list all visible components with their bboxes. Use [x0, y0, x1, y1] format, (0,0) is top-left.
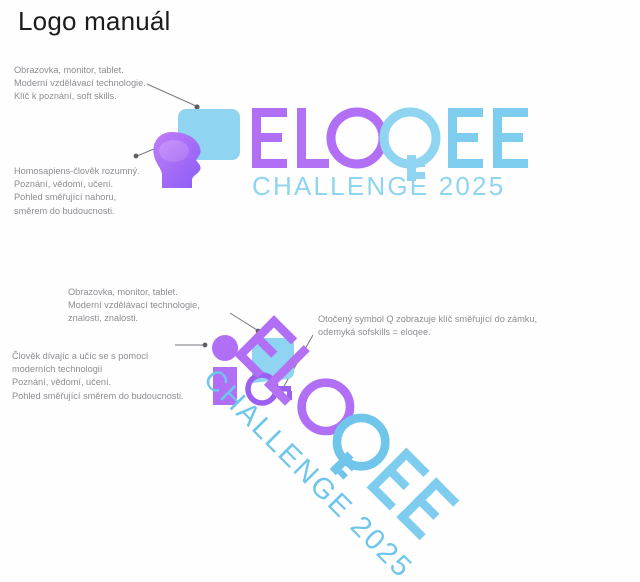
head-note-top-line-4: směrem do budoucnosti. — [14, 205, 140, 218]
wordmark-letter-E2 — [448, 108, 483, 168]
logo-lockup-rotated: CHALLENGE 2025 — [168, 330, 468, 570]
wordmark-letter-O — [331, 112, 383, 164]
logo-manual-page: Logo manuál Obrazovka, monitor, tablet. … — [0, 0, 640, 582]
screen-note-bottom: Obrazovka, monitor, tablet. Moderní vzdě… — [68, 286, 200, 326]
person-note-bottom: Člověk dívajíc a učíc se s pomocí modern… — [12, 350, 184, 403]
screen-note-top-line-2: Moderní vzdělávací technologie. — [14, 77, 146, 90]
wordmark-letter-E1 — [252, 108, 287, 168]
brain-oval-icon — [159, 140, 189, 162]
screen-note-top-line-1: Obrazovka, monitor, tablet. — [14, 64, 146, 77]
head-note-top-line-2: Poznání, vědomí, učení. — [14, 178, 140, 191]
screen-note-bottom-line-1: Obrazovka, monitor, tablet. — [68, 286, 200, 299]
screen-note-bottom-line-3: znalosti, znalosti. — [68, 312, 200, 325]
wordmark-rot-letter-O — [292, 373, 360, 441]
wordmark-tagline: CHALLENGE 2025 — [252, 171, 505, 200]
head-note-top: Homosapiens-člověk rozumný. Poznání, věd… — [14, 165, 140, 218]
page-title: Logo manuál — [18, 6, 171, 37]
person-note-bottom-line-3: Poznání, vědomí, učení. — [12, 376, 184, 389]
logo-lockup-rotated-svg: CHALLENGE 2025 — [139, 304, 485, 582]
screen-note-top-line-3: Klíč k poznání, soft skills. — [14, 90, 146, 103]
person-note-bottom-line-1: Člověk dívajíc a učíc se s pomocí — [12, 350, 184, 363]
head-note-top-line-3: Pohled směřující nahoru, — [14, 191, 140, 204]
screen-note-top: Obrazovka, monitor, tablet. Moderní vzdě… — [14, 64, 146, 104]
wordmark-letter-L — [297, 108, 329, 168]
key-note-bottom-line-1: Otočený symbol Q zobrazuje klíč směřujíc… — [318, 313, 537, 326]
head-note-top-line-1: Homosapiens-člověk rozumný. — [14, 165, 140, 178]
person-note-bottom-line-2: moderních technologií — [12, 363, 184, 376]
human-head-profile-icon — [153, 132, 200, 188]
logo-lockup-horizontal: CHALLENGE 2025 — [152, 100, 532, 200]
person-note-bottom-line-4: Pohled směřující směrem do budoucnosti. — [12, 390, 184, 403]
wordmark-letter-E3 — [493, 108, 528, 168]
screen-note-bottom-line-2: Moderní vzdělávací technologie, — [68, 299, 200, 312]
